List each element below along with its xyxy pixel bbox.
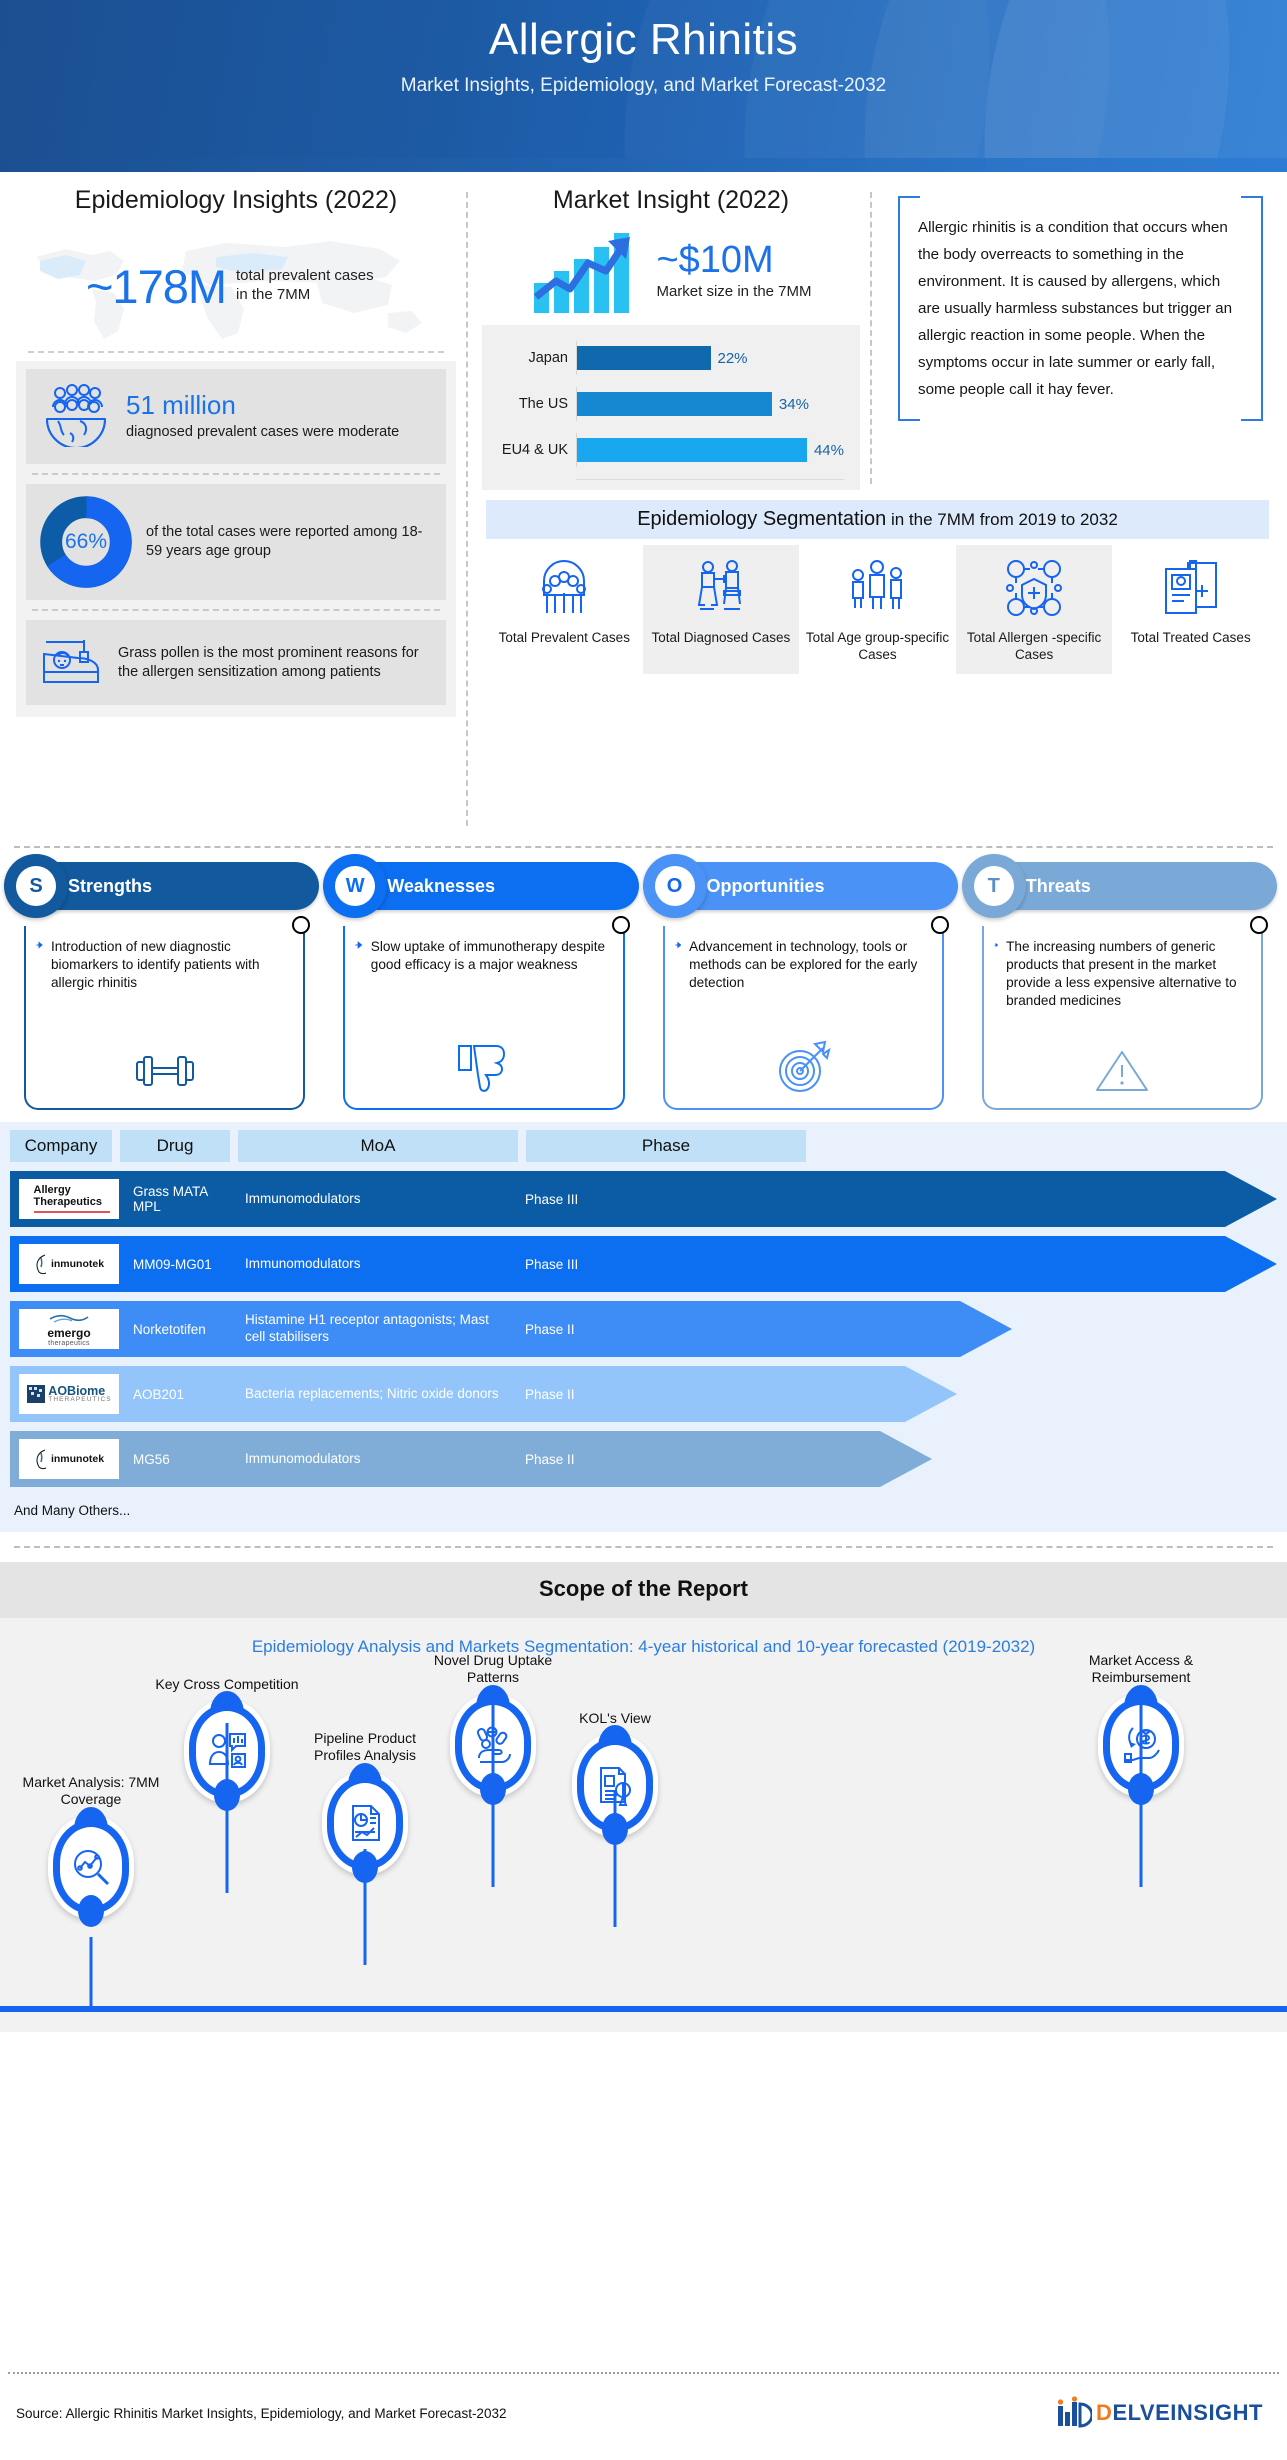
dumbbell-icon (133, 1048, 197, 1094)
prevalent-cases-value: ~178M (86, 259, 226, 314)
bar-fill-japan (577, 346, 711, 370)
cell-phase: Phase II (511, 1387, 711, 1402)
segmentation-item-allergen: Total Allergen -specific Cases (956, 545, 1113, 674)
section-divider-scope (14, 1546, 1273, 1548)
warning-triangle-icon (1095, 1048, 1149, 1094)
epidemiology-segmentation: Epidemiology Segmentation in the 7MM fro… (486, 500, 1269, 674)
market-share-bar-chart: Japan 22% The US 34% (482, 325, 860, 490)
scope-item-kol-view[interactable]: KOL's View (540, 1710, 690, 1838)
market-insight-row: Market Insight (2022) ~$10M (476, 186, 1277, 490)
swot-text-weaknesses: Slow uptake of immunotherapy despite goo… (371, 938, 611, 974)
table-row: emergo therapeutics Norketotifen Histami… (10, 1301, 1277, 1357)
cell-moa: Immunomodulators (231, 1451, 511, 1468)
company-logo-line1: inmunotek (51, 1258, 104, 1270)
bar-fill-eu4uk (577, 438, 807, 462)
segmentation-header: Epidemiology Segmentation in the 7MM fro… (486, 500, 1269, 539)
inmunotek-mark-icon (34, 1448, 48, 1470)
growth-bars-icon (530, 225, 648, 317)
table-row: inmunotek MM09-MG01 Immunomodulators Pha… (10, 1236, 1277, 1292)
scope-pin (184, 1699, 270, 1803)
market-size-label: Market size in the 7MM (656, 283, 811, 302)
bar-chart-axis (576, 479, 844, 480)
epi-card-moderate-cases: 51 million diagnosed prevalent cases wer… (26, 369, 446, 464)
page-footer: Source: Allergic Rhinitis Market Insight… (0, 2372, 1287, 2460)
cell-drug: Norketotifen (119, 1322, 231, 1337)
column-header-phase: Phase (526, 1130, 806, 1162)
scope-label-novel-drug-uptake: Novel Drug Uptake Patterns (418, 1652, 568, 1687)
segmentation-label-age-group: Total Age group-specific Cases (803, 630, 952, 664)
company-logo-line2: Therapeutics (34, 1197, 110, 1209)
cell-phase: Phase III (511, 1192, 711, 1207)
company-logo: inmunotek (19, 1439, 119, 1479)
swot-title-weaknesses: Weaknesses (387, 876, 495, 897)
aobiome-mark-icon (26, 1384, 46, 1404)
bar-label-eu4uk: EU4 & UK (490, 442, 576, 458)
donut-chart-icon: 66% (40, 496, 132, 588)
epidemiology-insights-panel: Epidemiology Insights (2022) (10, 186, 462, 832)
cell-drug: MG56 (119, 1452, 231, 1467)
bar-label-us: The US (490, 396, 576, 412)
scope-pin (48, 1815, 134, 1919)
inmunotek-mark-icon (34, 1253, 48, 1275)
scope-title-band: Scope of the Report (0, 1562, 1287, 1618)
emergo-mark-icon (48, 1313, 90, 1323)
swot-threats: T Threats The increasing numbers of gene… (968, 862, 1277, 1110)
cell-moa: Immunomodulators (231, 1191, 511, 1208)
population-group-icon (533, 557, 595, 619)
epidemiology-section-title: Epidemiology Insights (2022) (16, 186, 456, 215)
thumbs-down-icon (457, 1042, 511, 1094)
arrow-bullet-icon (355, 938, 363, 952)
swot-bullet-threats: The increasing numbers of generic produc… (984, 926, 1261, 1010)
swot-pill-opportunities[interactable]: O Opportunities (649, 862, 958, 910)
scope-item-market-access[interactable]: Market Access & Reimbursement (1046, 1652, 1236, 1797)
table-row: inmunotek MG56 Immunomodulators Phase II (10, 1431, 1277, 1487)
swot-strengths: S Strengths Introduction of new diagnost… (10, 862, 319, 1110)
cell-phase: Phase II (511, 1322, 711, 1337)
moderate-cases-label: diagnosed prevalent cases were moderate (126, 424, 399, 440)
cell-drug: AOB201 (119, 1387, 231, 1402)
segmentation-label-diagnosed: Total Diagnosed Cases (647, 630, 796, 647)
scope-title: Scope of the Report (0, 1576, 1287, 1602)
swot-badge-weaknesses: W (323, 854, 387, 918)
swot-body-opportunities: Advancement in technology, tools or meth… (663, 926, 944, 1110)
epidemiology-cards: 51 million diagnosed prevalent cases wer… (16, 361, 456, 717)
swot-weaknesses: W Weaknesses Slow uptake of immunotherap… (329, 862, 638, 1110)
cell-moa: Histamine H1 receptor antagonists; Mast … (231, 1312, 511, 1346)
epi-divider (28, 351, 444, 353)
age-group-percent: 66% (40, 496, 132, 588)
allergen-network-shield-icon (1003, 557, 1065, 619)
vertical-divider-2 (870, 192, 872, 484)
infographic-page: Allergic Rhinitis Market Insights, Epide… (0, 0, 1287, 2460)
prevalent-cases-label: total prevalent cases in the 7MM (236, 267, 386, 305)
segmentation-item-diagnosed: Total Diagnosed Cases (643, 545, 800, 674)
segmentation-title-bold: Epidemiology Segmentation (637, 508, 886, 530)
people-globe-icon (40, 381, 112, 452)
cell-phase: Phase III (511, 1257, 711, 1272)
company-logo: inmunotek (19, 1244, 119, 1284)
swot-bullet-strengths: Introduction of new diagnostic biomarker… (26, 926, 303, 992)
age-group-label: of the total cases were reported among 1… (146, 523, 432, 561)
swot-title-opportunities: Opportunities (707, 876, 825, 897)
bar-track-us: 34% (576, 387, 844, 421)
scope-pin (322, 1771, 408, 1875)
epi-card-moderate-text: 51 million diagnosed prevalent cases wer… (126, 391, 399, 441)
description-text: Allergic rhinitis is a condition that oc… (918, 214, 1243, 403)
table-row: Allergy Therapeutics Grass MATA MPL Immu… (10, 1171, 1277, 1227)
vertical-divider-1 (466, 192, 468, 826)
column-header-moa: MoA (238, 1130, 518, 1162)
epi-card-age-group: 66% of the total cases were reported amo… (26, 484, 446, 600)
swot-pill-weaknesses[interactable]: W Weaknesses (329, 862, 638, 910)
bar-label-japan: Japan (490, 350, 576, 366)
pipeline-table: Company Drug MoA Phase Allergy Therapeut… (0, 1122, 1287, 1532)
cell-drug: Grass MATA MPL (119, 1184, 231, 1214)
source-text: Source: Allergic Rhinitis Market Insight… (16, 2406, 506, 2421)
table-row: AOBiome THERAPEUTICS AOB201 Bacteria rep… (10, 1366, 1277, 1422)
swot-text-strengths: Introduction of new diagnostic biomarker… (51, 938, 291, 992)
pipeline-table-header: Company Drug MoA Phase (10, 1130, 1277, 1162)
market-insight-panel: Market Insight (2022) ~$10M (476, 186, 866, 490)
magnifier-chart-icon (70, 1846, 112, 1888)
segmentation-label-prevalent: Total Prevalent Cases (490, 630, 639, 647)
scope-pin (450, 1693, 536, 1797)
bar-value-japan: 22% (718, 350, 748, 367)
bar-row-eu4uk: EU4 & UK 44% (490, 433, 844, 467)
doctor-patient-icon (690, 557, 752, 619)
company-logo: Allergy Therapeutics (19, 1179, 119, 1219)
scope-item-market-analysis[interactable]: Market Analysis: 7MM Coverage (16, 1774, 166, 1919)
segmentation-label-allergen: Total Allergen -specific Cases (960, 630, 1109, 664)
scope-item-key-cross-competition[interactable]: Key Cross Competition (152, 1676, 302, 1804)
swot-badge-opportunities: O (643, 854, 707, 918)
scope-of-report: Scope of the Report Epidemiology Analysi… (0, 1562, 1287, 2032)
description-panel: Allergic rhinitis is a condition that oc… (880, 186, 1277, 490)
segmentation-label-treated: Total Treated Cases (1116, 630, 1265, 647)
segmentation-item-prevalent: Total Prevalent Cases (486, 545, 643, 674)
arrow-bullet-icon (36, 938, 43, 952)
scope-baseline (0, 2006, 1287, 2012)
delveinsight-mark-icon (1056, 2396, 1092, 2430)
report-document-icon (344, 1802, 386, 1844)
swot-letter-opportunities: O (655, 866, 695, 906)
page-title: Allergic Rhinitis (0, 14, 1287, 67)
page-subtitle: Market Insights, Epidemiology, and Marke… (0, 75, 1287, 97)
segmentation-item-age-group: Total Age group-specific Cases (799, 545, 956, 674)
swot-opportunities: O Opportunities Advancement in technolog… (649, 862, 958, 1110)
column-header-company: Company (10, 1130, 112, 1162)
swot-letter-strengths: S (16, 866, 56, 906)
company-logo-line1: emergo (47, 1327, 90, 1340)
segmentation-title-light: in the 7MM from 2019 to 2032 (886, 510, 1118, 529)
logo-text-1: D (1096, 2400, 1112, 2425)
medical-record-icon (1160, 557, 1222, 619)
market-size-hero: ~$10M Market size in the 7MM (482, 225, 860, 317)
scope-pin (1098, 1693, 1184, 1797)
segmentation-item-treated: Total Treated Cases (1112, 545, 1269, 674)
bar-track-eu4uk: 44% (576, 433, 844, 467)
segmentation-items: Total Prevalent Cases Total Diagno (486, 545, 1269, 674)
cell-phase: Phase II (511, 1452, 711, 1467)
company-logo-line2: THERAPEUTICS (48, 1397, 111, 1404)
grass-pollen-label: Grass pollen is the most prominent reaso… (118, 644, 432, 682)
swot-letter-weaknesses: W (335, 866, 375, 906)
bracket-left-icon (898, 196, 920, 421)
bar-fill-us (577, 392, 772, 416)
logo-text-2: ELVEINSIGHT (1112, 2400, 1263, 2425)
bracket-right-icon (1241, 196, 1263, 421)
patient-bed-icon (40, 632, 104, 693)
company-logo-line2: therapeutics (47, 1340, 90, 1347)
delveinsight-logo: DELVEINSIGHT (1056, 2396, 1263, 2430)
company-logo: AOBiome THERAPEUTICS (19, 1374, 119, 1414)
arrow-bullet-icon (675, 938, 682, 952)
bar-row-us: The US 34% (490, 387, 844, 421)
cell-moa: Bacteria replacements; Nitric oxide dono… (231, 1386, 511, 1403)
cell-moa: Immunomodulators (231, 1256, 511, 1273)
market-size-value: ~$10M (656, 241, 811, 279)
swot-title-strengths: Strengths (68, 876, 152, 897)
swot-text-opportunities: Advancement in technology, tools or meth… (689, 938, 930, 992)
age-group-people-icon (846, 557, 908, 619)
epi-card-grass-pollen: Grass pollen is the most prominent reaso… (26, 620, 446, 705)
swot-text-threats: The increasing numbers of generic produc… (1006, 938, 1249, 1010)
swot-pill-strengths[interactable]: S Strengths (10, 862, 319, 910)
bar-value-eu4uk: 44% (814, 442, 844, 459)
column-header-drug: Drug (120, 1130, 230, 1162)
swot-bullet-weaknesses: Slow uptake of immunotherapy despite goo… (345, 926, 622, 974)
cell-drug: MM09-MG01 (119, 1257, 231, 1272)
top-content-grid: Epidemiology Insights (2022) (0, 172, 1287, 832)
scope-label-market-analysis: Market Analysis: 7MM Coverage (16, 1774, 166, 1809)
right-panel: Market Insight (2022) ~$10M (476, 186, 1277, 832)
swot-body-weaknesses: Slow uptake of immunotherapy despite goo… (343, 926, 624, 1110)
bar-track-japan: 22% (576, 341, 844, 375)
swot-analysis: S Strengths Introduction of new diagnost… (0, 862, 1287, 1110)
swot-body-strengths: Introduction of new diagnostic biomarker… (24, 926, 305, 1110)
description-box: Allergic rhinitis is a condition that oc… (898, 196, 1263, 421)
epi-card-separator-1 (32, 473, 440, 475)
swot-pill-threats[interactable]: T Threats (968, 862, 1277, 910)
market-insight-section-title: Market Insight (2022) (482, 186, 860, 215)
epi-card-separator-2 (32, 609, 440, 611)
arrow-bullet-icon (994, 938, 998, 952)
swot-body-threats: The increasing numbers of generic produc… (982, 926, 1263, 1110)
scope-pin (572, 1733, 658, 1837)
swot-badge-threats: T (962, 854, 1026, 918)
swot-title-threats: Threats (1026, 876, 1091, 897)
swot-badge-strengths: S (4, 854, 68, 918)
company-logo: emergo therapeutics (19, 1309, 119, 1349)
epidemiology-hero: ~178M total prevalent cases in the 7MM (16, 227, 456, 345)
swot-bullet-opportunities: Advancement in technology, tools or meth… (665, 926, 942, 992)
section-divider-swot (14, 846, 1273, 848)
delveinsight-wordmark: DELVEINSIGHT (1096, 2400, 1263, 2426)
target-dart-icon (775, 1040, 831, 1094)
bar-row-japan: Japan 22% (490, 341, 844, 375)
scope-items: Market Analysis: 7MM Coverage (0, 1666, 1287, 1966)
pipeline-footnote: And Many Others... (10, 1503, 1277, 1518)
company-logo-line1: inmunotek (51, 1453, 104, 1465)
moderate-cases-value: 51 million (126, 391, 399, 420)
swot-letter-threats: T (974, 866, 1014, 906)
bar-value-us: 34% (779, 396, 809, 413)
scope-label-market-access: Market Access & Reimbursement (1046, 1652, 1236, 1687)
page-header: Allergic Rhinitis Market Insights, Epide… (0, 0, 1287, 172)
header-bottom-bar (0, 158, 1287, 172)
